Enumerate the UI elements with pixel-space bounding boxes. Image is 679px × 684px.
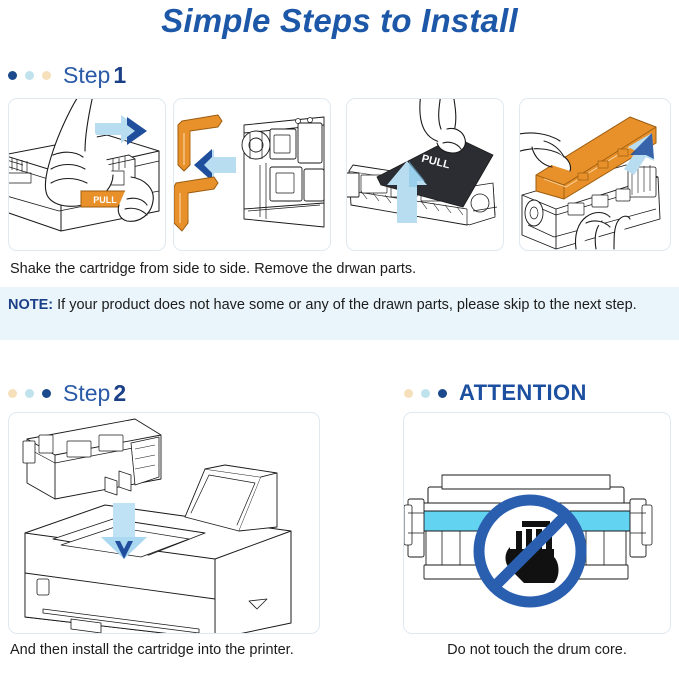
svg-text:PULL: PULL [93,195,117,205]
page-title: Simple Steps to Install [0,2,679,40]
panel-remove-clips [173,98,331,251]
dot-navy-icon [438,389,447,398]
note-text: If your product does not have some or an… [53,297,637,313]
dot-light-blue-icon [25,71,34,80]
panel-do-not-touch [403,412,671,634]
panel-remove-clips-illustration [174,99,330,250]
panel-pull-seal-illustration: PULL [347,99,503,250]
step-2-number: 2 [113,380,126,406]
step-1-dots [8,71,51,80]
step-1-header: Step1 [8,62,126,88]
panel-pull-tab-illustration: PULL [9,99,165,250]
note-keyword: NOTE: [8,297,53,313]
step-2-header: Step2 [8,380,126,406]
panel-install-cartridge [8,412,320,634]
step-2-label: Step2 [63,380,126,407]
panel-pull-tab: PULL [8,98,166,251]
dot-light-blue-icon [25,389,34,398]
panel-install-cartridge-illustration [9,413,319,633]
step-1-caption: Shake the cartridge from side to side. R… [10,259,670,279]
no-touch-icon [479,500,581,602]
dot-navy-icon [42,389,51,398]
step-2-word: Step [63,380,110,406]
note-box: NOTE: If your product does not have some… [0,287,679,340]
attention-header: ATTENTION [404,380,587,406]
dot-light-blue-icon [421,389,430,398]
panel-remove-cover [519,98,671,251]
attention-caption: Do not touch the drum core. [403,640,671,660]
step-2-dots [8,389,51,398]
step-2-caption: And then install the cartridge into the … [10,640,300,660]
attention-label: ATTENTION [459,380,587,406]
dot-tan-icon [8,389,17,398]
orange-clip-lower [174,177,218,231]
dot-tan-icon [404,389,413,398]
panel-pull-seal: PULL [346,98,504,251]
dot-navy-icon [8,71,17,80]
panel-remove-cover-illustration [520,99,670,250]
step-1-word: Step [63,62,110,88]
panel-do-not-touch-illustration [404,413,670,633]
step-1-number: 1 [113,62,126,88]
attention-dots [404,389,447,398]
step-1-label: Step1 [63,62,126,89]
dot-tan-icon [42,71,51,80]
